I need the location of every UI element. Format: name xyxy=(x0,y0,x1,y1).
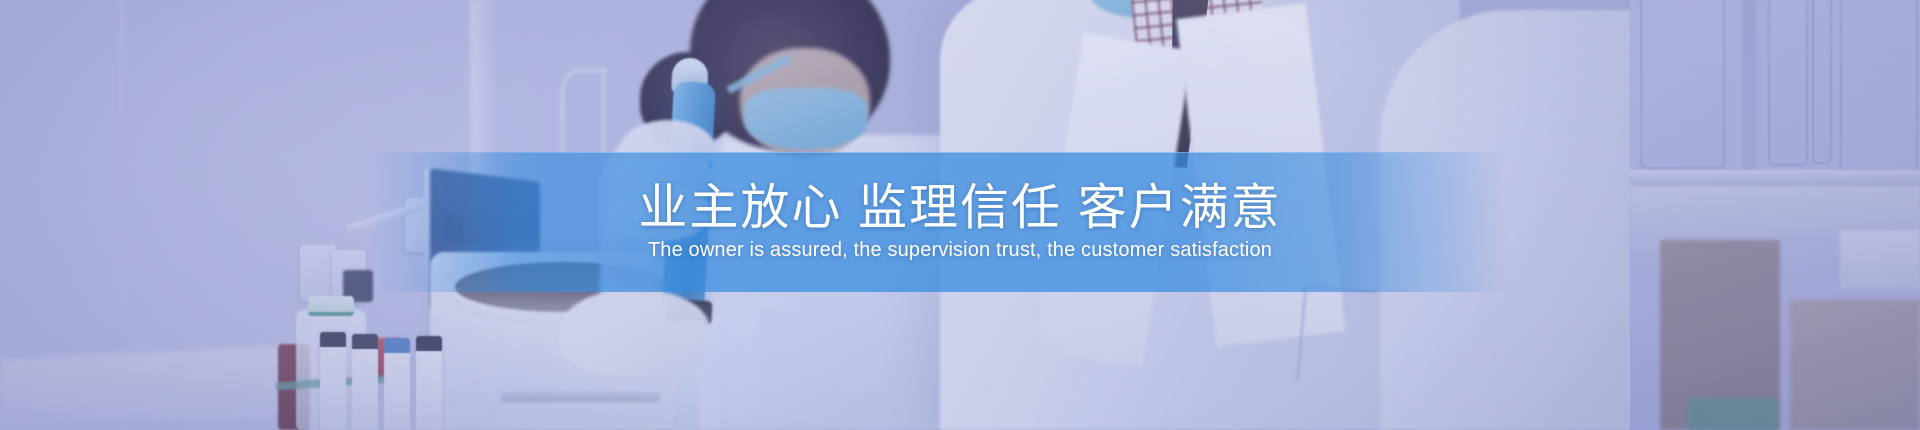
bottle-cap xyxy=(308,296,354,316)
vial-cap xyxy=(416,336,442,351)
window-pane xyxy=(1812,0,1832,164)
face-mask-icon xyxy=(744,88,868,150)
hero-banner: 业主放心 监理信任 客户满意 The owner is assured, the… xyxy=(0,0,1920,430)
reagent-vial xyxy=(384,338,410,430)
reagent-vial xyxy=(352,334,378,430)
faucet-icon xyxy=(560,68,606,154)
analyzer-slot xyxy=(500,392,660,402)
gloved-hand-lower xyxy=(560,290,710,376)
banner-subtitle: The owner is assured, the supervision tr… xyxy=(648,239,1272,261)
banner-headline: 业主放心 监理信任 客户满意 xyxy=(638,184,1281,233)
slogan-block: 业主放心 监理信任 客户满意 The owner is assured, the… xyxy=(0,152,1920,292)
teal-container xyxy=(1688,398,1778,430)
window-pane xyxy=(1840,0,1918,176)
faucet-stem xyxy=(601,68,606,164)
cardboard-box xyxy=(1790,300,1920,430)
window-pane xyxy=(1768,0,1808,166)
vial-cap xyxy=(320,332,346,347)
vial-cap xyxy=(352,334,378,349)
reagent-vial xyxy=(416,336,442,430)
vial-cap xyxy=(384,338,410,353)
window-pane xyxy=(1640,0,1725,169)
reagent-vial xyxy=(320,332,346,430)
